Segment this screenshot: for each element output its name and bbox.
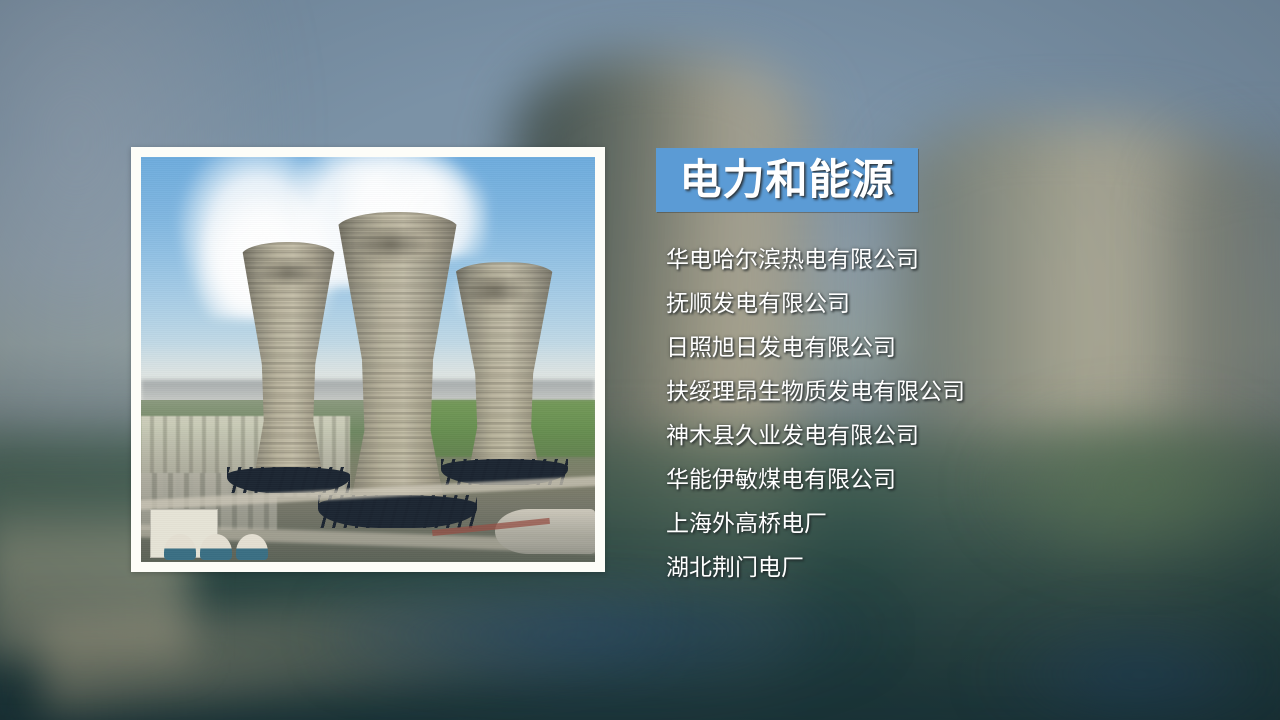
power-plant-photo [141, 157, 595, 562]
list-item: 华电哈尔滨热电有限公司 [666, 238, 1226, 282]
list-item: 抚顺发电有限公司 [666, 282, 1226, 326]
slide-canvas: 电力和能源 华电哈尔滨热电有限公司 抚顺发电有限公司 日照旭日发电有限公司 扶绥… [0, 0, 1280, 720]
list-item: 湖北荆门电厂 [666, 546, 1226, 590]
list-item: 上海外高桥电厂 [666, 502, 1226, 546]
list-item: 日照旭日发电有限公司 [666, 326, 1226, 370]
list-item: 扶绥理昂生物质发电有限公司 [666, 370, 1226, 414]
power-plant-photo-card [131, 147, 605, 572]
page-title: 电力和能源 [679, 159, 894, 201]
photo-pipework [495, 509, 595, 554]
cooling-tower-center-supports [318, 495, 477, 527]
section-title-banner: 电力和能源 [656, 148, 918, 212]
photo-storage-tank [164, 534, 196, 560]
tower-stain [354, 226, 427, 262]
tower-stain [259, 258, 318, 286]
list-item: 神木县久业发电有限公司 [666, 414, 1226, 458]
list-item: 华能伊敏煤电有限公司 [666, 458, 1226, 502]
tower-stain [463, 274, 527, 306]
company-list: 华电哈尔滨热电有限公司 抚顺发电有限公司 日照旭日发电有限公司 扶绥理昂生物质发… [666, 238, 1226, 590]
